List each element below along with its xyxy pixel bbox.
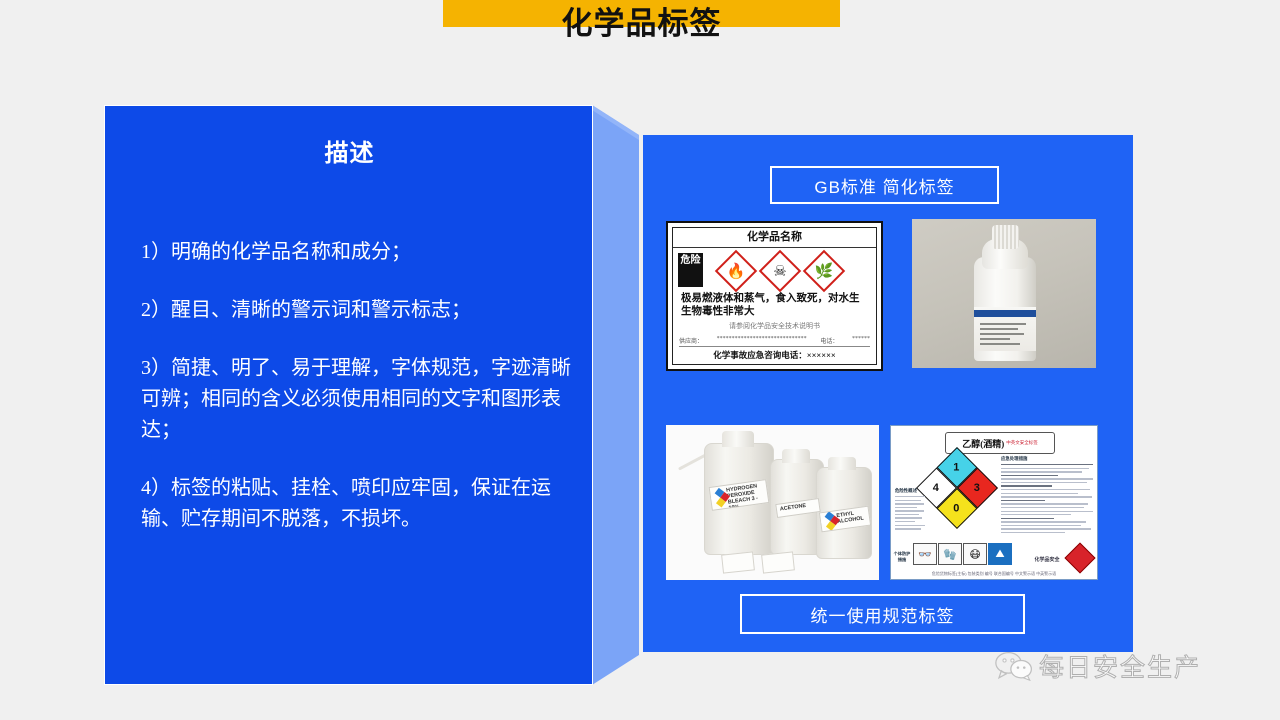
description-list: 1）明确的化学品名称和成分； 2）醒目、清晰的警示词和警示标志； 3）简捷、明了… [141,237,571,562]
lab-bottle-name: ETHYL ALCOHOL [836,509,867,525]
nfpa-flammability-value: 3 [974,482,980,494]
ethanol-ppe-heading: 个体防护措施 [893,551,911,563]
gb-emergency-line: 化学事故应急咨询电话：×××××× [679,349,870,361]
gb-sds-note: 请参阅化学品安全技术说明书 [673,321,876,331]
ethanol-hazard-text: 危险性概述 [895,488,925,532]
skull-pictogram: ☠ [759,250,801,292]
lab-bottle-name: ACETONE [780,501,817,512]
bottle-cap [992,225,1019,249]
ethanol-signature: 化学品安全 [1001,556,1093,563]
gb-hazard-statement: 极易燃液体和蒸气，食入致死，对水生生物毒性非常大 [681,293,868,318]
gb-chemical-label-image: 化学品名称 危险 🔥 ☠ 🌿 极易燃液体和蒸气，食入致死，对水生生物毒性非常大 … [666,221,883,371]
gb-phone-value: ****** [852,336,870,345]
gb-phone-label: 电话： [820,336,838,345]
callout-unified-label: 统一使用规范标签 [740,594,1025,634]
gb-supplier-label: 供应商： [679,336,703,345]
respirator-icon: 😷 [963,543,987,565]
ethanol-footer: 危险货物标签(主标) 包装类别 编号 联合国编号 中文警示语 中英警示语 [891,571,1097,577]
page-title: 化学品标签 [443,2,840,46]
gloves-icon: 🧤 [938,543,962,565]
ethanol-right-heading: 应急处理措施 [1001,456,1093,462]
ethanol-emergency-text: 应急处理措施 [1001,456,1093,536]
description-panel: 描述 1）明确的化学品名称和成分； 2）醒目、清晰的警示词和警示标志； 3）简捷… [104,100,644,690]
nfpa-special-value: 4 [933,482,939,494]
ethanol-left-heading: 危险性概述 [895,488,925,494]
environment-pictogram: 🌿 [803,250,845,292]
ethanol-title-text: 乙醇(酒精) [962,437,1004,450]
goggles-icon: 👓 [913,543,937,565]
watermark: 每日安全生产 [995,648,1201,684]
nfpa-reactivity-value: 0 [954,503,960,515]
nfpa-health-value: 1 [954,461,960,473]
gb-product-name: 化学品名称 [673,228,876,248]
list-item: 4）标签的粘贴、挂栓、喷印应牢固，保证在运输、贮存期间不脱落，不损坏。 [141,473,571,535]
bottle-label [974,307,1036,351]
flame-pictogram: 🔥 [715,250,757,292]
gb-signal-word: 危险 [678,253,703,287]
description-heading: 描述 [105,133,594,168]
gb-supplier-value: ****************************** [717,336,807,345]
list-item: 2）醒目、清晰的警示词和警示标志； [141,295,571,326]
wechat-icon [995,651,1033,681]
ethanol-title-sub: 中英文安全标签 [1006,440,1038,446]
description-panel-face: 描述 1）明确的化学品名称和成分； 2）醒目、清晰的警示词和警示标志； 3）简捷… [104,105,593,685]
callout-gb-standard: GB标准 简化标签 [770,166,999,204]
nfpa-diamond: 1 3 4 0 [916,447,998,529]
lab-bottles-photo: HYDROGEN PEROXIDE BLEACH 3 - 10% ACETONE… [666,425,879,580]
watermark-text: 每日安全生产 [1039,648,1201,684]
reagent-bottle-photo [912,219,1096,368]
ethanol-safety-label-image: 乙醇(酒精) 中英文安全标签 1 3 4 0 应急处理措施 [890,425,1098,580]
list-item: 3）简捷、明了、易于理解，字体规范，字迹清晰可辨；相同的含义必须使用相同的文字和… [141,353,571,446]
examples-panel: GB标准 简化标签 化学品名称 危险 🔥 ☠ 🌿 极易燃液体和蒸气，食入致死，对… [643,135,1133,652]
list-item: 1）明确的化学品名称和成分； [141,237,571,268]
